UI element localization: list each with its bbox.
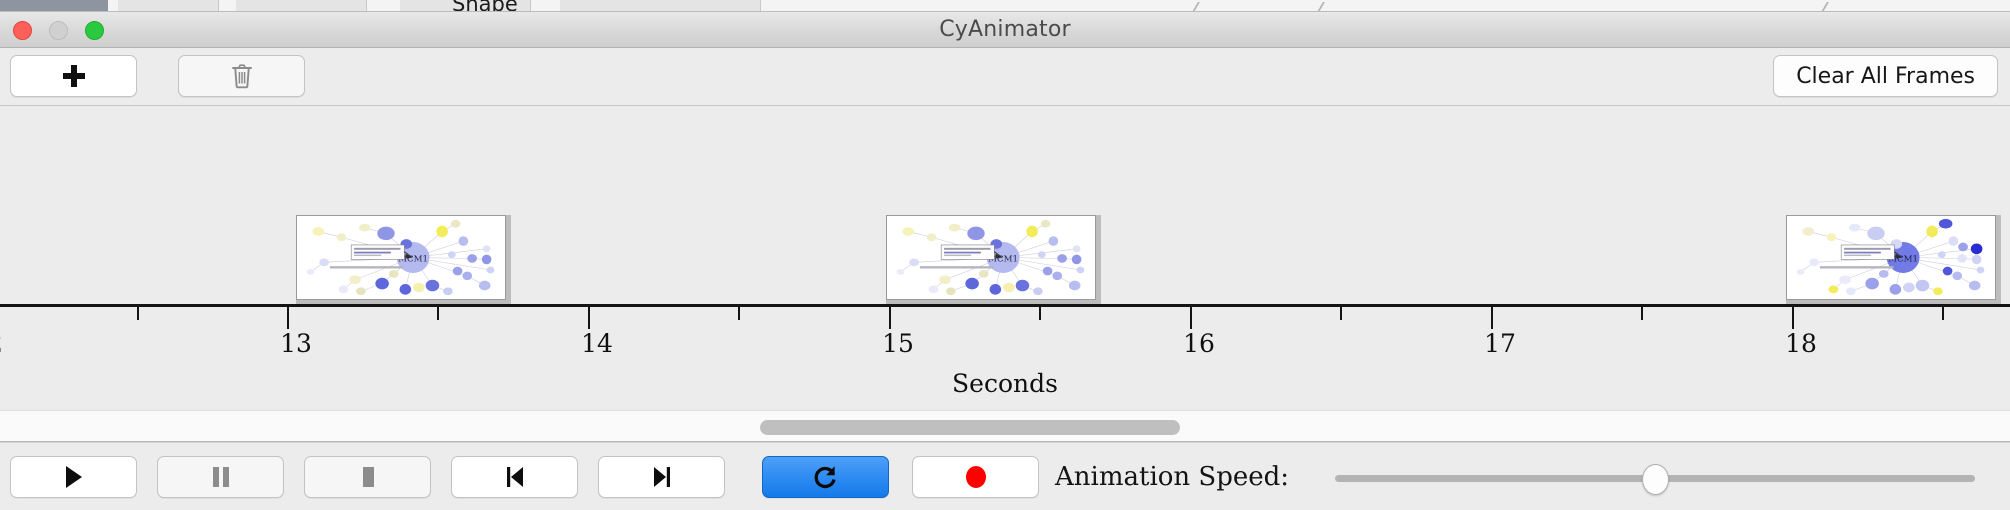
trash-icon <box>230 63 254 89</box>
clear-all-frames-button[interactable]: Clear All Frames <box>1773 55 1998 97</box>
animation-speed-label: Animation Speed: <box>1055 456 1289 498</box>
axis-tick-minor <box>1942 307 1944 320</box>
scrollbar-thumb[interactable] <box>760 420 1180 435</box>
plus-icon <box>63 65 85 87</box>
skip-to-start-button[interactable] <box>451 456 578 498</box>
axis-tick-major <box>1190 307 1192 329</box>
stop-button[interactable] <box>304 456 431 498</box>
axis-tick-major <box>1491 307 1493 329</box>
axis-tick-minor <box>1641 307 1643 320</box>
titlebar: CyAnimator <box>0 12 2010 48</box>
toolbar: Clear All Frames <box>0 48 2010 106</box>
stop-icon <box>357 464 379 490</box>
network-preview: MCM1 <box>887 216 1095 299</box>
axis-tick-label: 13 <box>280 329 312 358</box>
frame-thumbnail[interactable]: MCM1 <box>886 215 1101 305</box>
timeline-axis <box>0 304 2010 307</box>
pause-icon <box>210 464 232 490</box>
frame-thumbnail-image: MCM1 <box>1786 215 1996 300</box>
loop-button[interactable] <box>762 456 889 498</box>
record-button[interactable] <box>912 456 1039 498</box>
axis-tick-label: 15 <box>882 329 914 358</box>
frame-thumbnail[interactable]: MCM1 <box>1786 215 2001 305</box>
axis-tick-major <box>1792 307 1794 329</box>
frame-thumbnail-image: MCM1 <box>886 215 1096 300</box>
skip-back-icon <box>502 464 528 490</box>
axis-tick-major <box>287 307 289 329</box>
frame-thumbnail-image: MCM1 <box>296 215 506 300</box>
axis-tick-minor <box>738 307 740 320</box>
horizontal-scrollbar[interactable] <box>0 410 2010 442</box>
axis-tick-label: 17 <box>1484 329 1516 358</box>
axis-tick-label: 2 <box>0 329 3 358</box>
play-icon <box>63 464 85 490</box>
axis-tick-minor <box>137 307 139 320</box>
axis-tick-minor <box>1340 307 1342 320</box>
background-window-chrome: Shape <box>0 0 2010 12</box>
axis-tick-major <box>889 307 891 329</box>
skip-to-end-button[interactable] <box>598 456 725 498</box>
loop-icon <box>812 463 840 491</box>
frame-thumbnail[interactable]: MCM1 <box>296 215 511 305</box>
network-preview: MCM1 <box>1787 216 1995 299</box>
delete-frame-button[interactable] <box>178 55 305 97</box>
animation-speed-slider-thumb[interactable] <box>1642 464 1669 495</box>
axis-tick-label: 14 <box>581 329 613 358</box>
window-title: CyAnimator <box>0 12 2010 48</box>
axis-tick-major <box>588 307 590 329</box>
axis-tick-minor <box>437 307 439 320</box>
cyanimator-window: Shape CyAnimator Clear All Frames <box>0 0 2010 510</box>
skip-forward-icon <box>649 464 675 490</box>
add-frame-button[interactable] <box>10 55 137 97</box>
pause-button[interactable] <box>157 456 284 498</box>
play-button[interactable] <box>10 456 137 498</box>
network-preview: MCM1 <box>297 216 505 299</box>
axis-tick-label: 18 <box>1785 329 1817 358</box>
axis-title: Seconds <box>0 369 2010 398</box>
axis-tick-minor <box>1039 307 1041 320</box>
playback-control-bar: Animation Speed: <box>0 442 2010 510</box>
record-icon <box>963 463 989 491</box>
axis-tick-label: 16 <box>1183 329 1215 358</box>
timeline-panel[interactable]: MCM1 <box>0 107 2010 410</box>
